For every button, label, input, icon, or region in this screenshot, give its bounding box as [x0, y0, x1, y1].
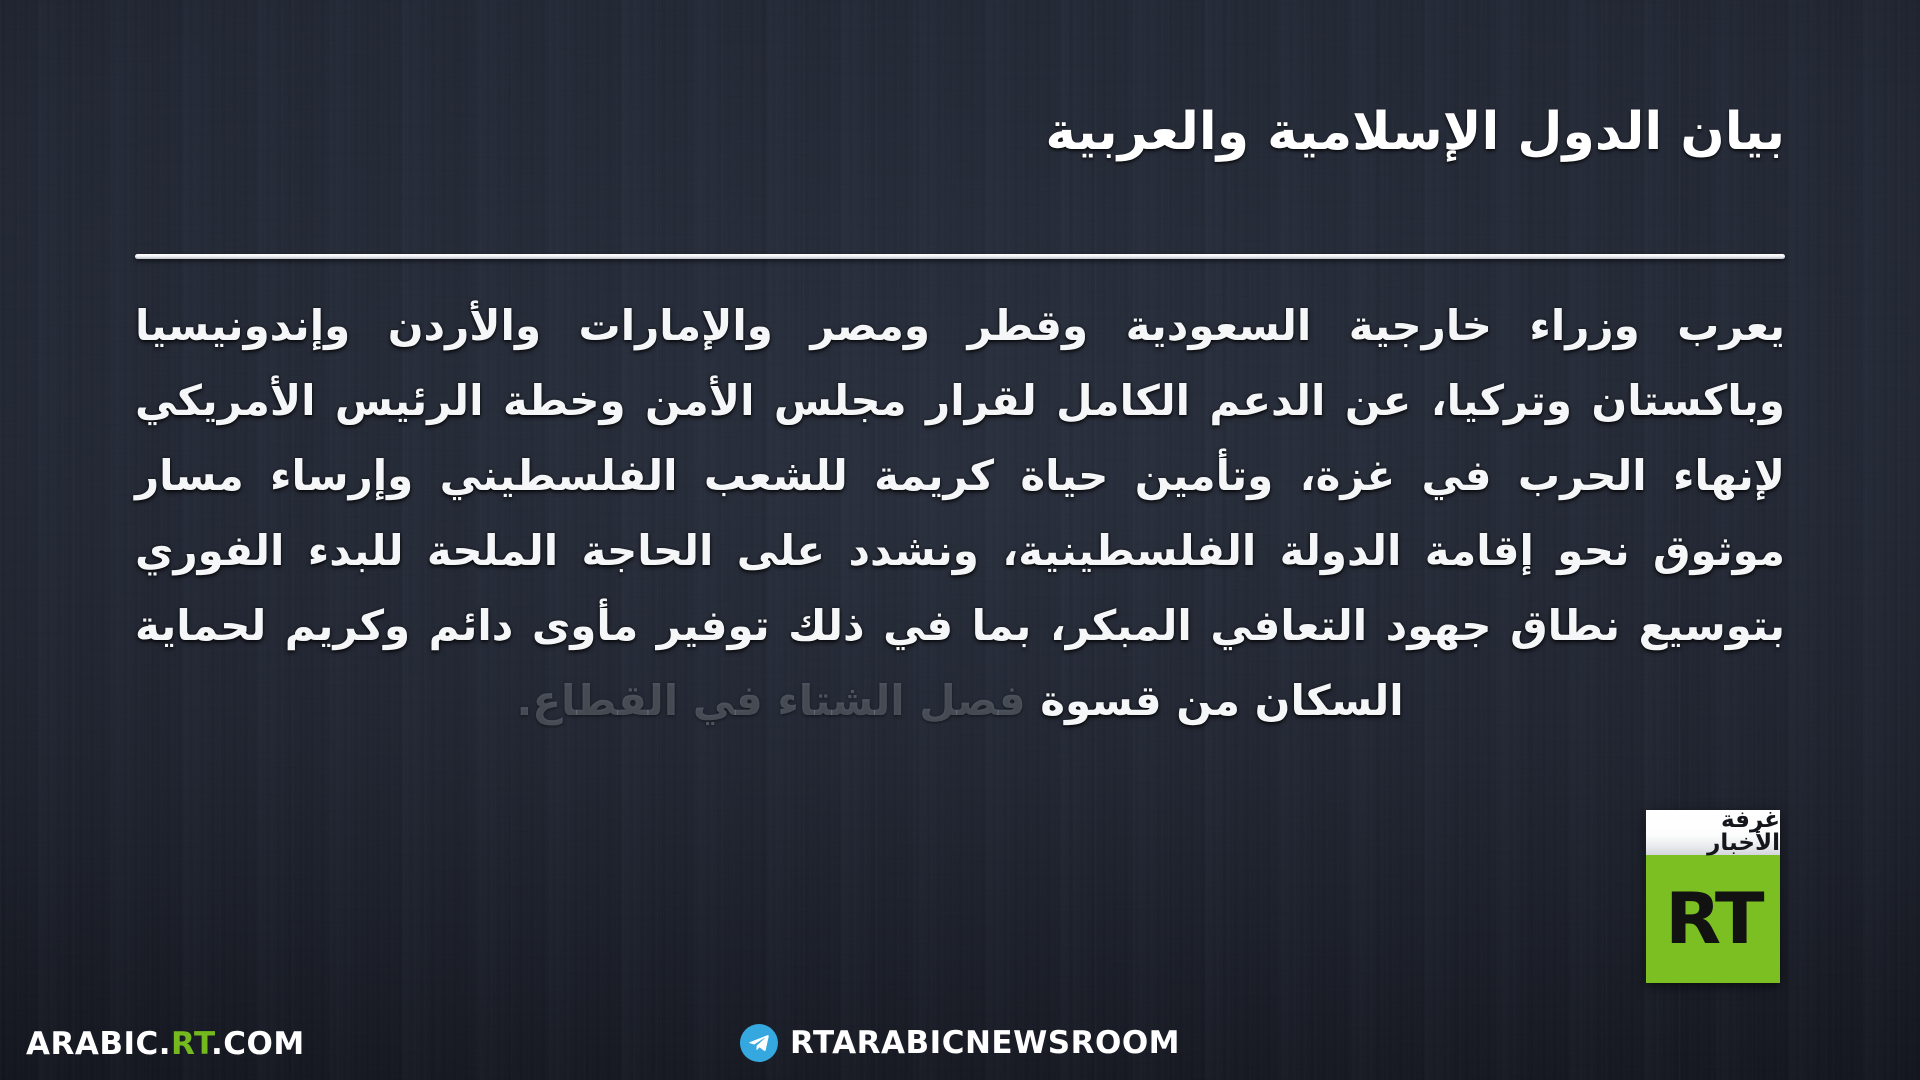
body-paragraph-faded-tail: فصل الشتاء في القطاع.	[516, 676, 1025, 725]
telegram-handle: RTARABICNEWSROOM	[740, 1024, 1180, 1062]
page-title: بيان الدول الإسلامية والعربية	[585, 100, 1785, 165]
newsroom-label-bar: غرفة الأخبار	[1646, 810, 1780, 855]
news-graphic-canvas: بيان الدول الإسلامية والعربية يعرب وزراء…	[0, 0, 1920, 1080]
telegram-handle-text: RTARABICNEWSROOM	[790, 1028, 1180, 1059]
site-url-suffix: .COM	[211, 1026, 305, 1062]
rt-logo: غرفة الأخبار RT	[1646, 810, 1780, 983]
site-url: ARABIC.RT.COM	[26, 1026, 305, 1062]
body-paragraph-main: يعرب وزراء خارجية السعودية وقطر ومصر وال…	[135, 301, 1785, 725]
newsroom-label: غرفة الأخبار	[1646, 809, 1780, 855]
rt-brand-text: RT	[1665, 884, 1761, 954]
site-url-accent: RT	[171, 1026, 211, 1062]
site-url-prefix: ARABIC.	[26, 1026, 171, 1062]
body-paragraph: يعرب وزراء خارجية السعودية وقطر ومصر وال…	[135, 288, 1785, 738]
title-divider	[135, 254, 1785, 259]
rt-brand-tile: RT	[1646, 855, 1780, 983]
telegram-icon	[740, 1024, 778, 1062]
